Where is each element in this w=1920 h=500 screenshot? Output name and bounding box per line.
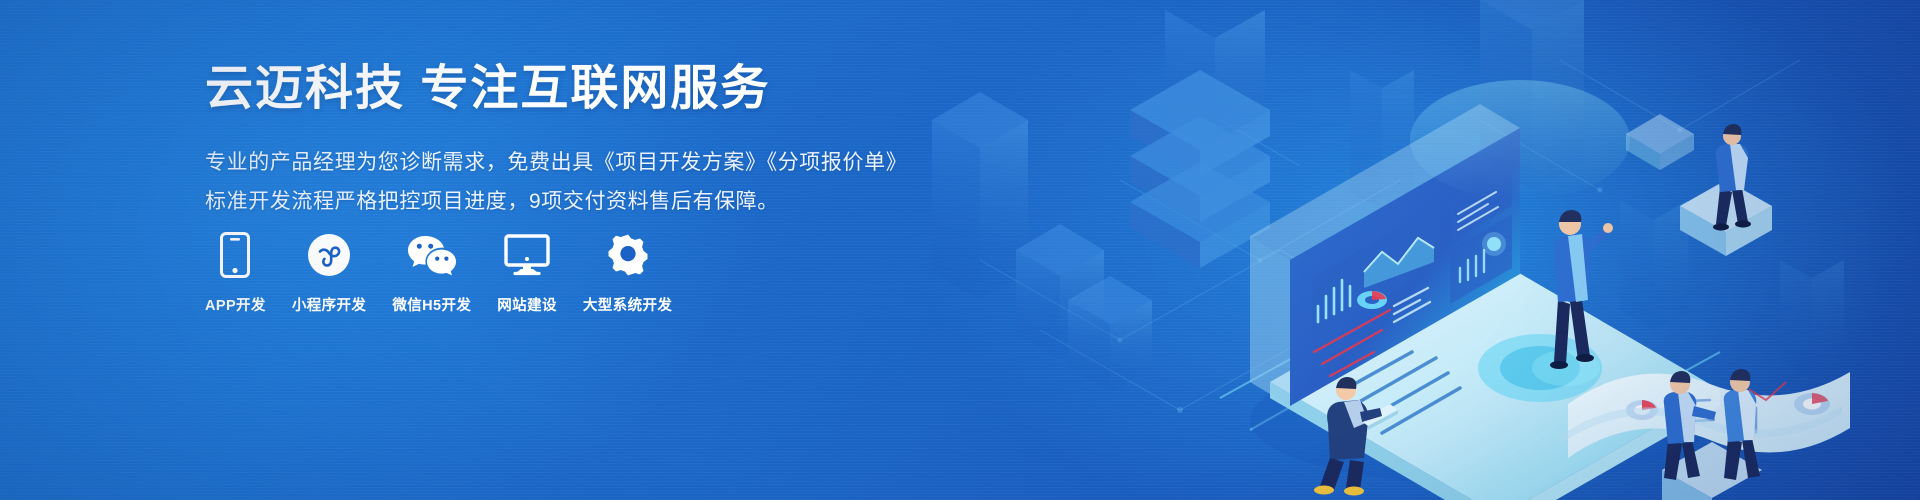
subtitle-line-2: 标准开发流程严格把控项目进度，9项交付资料售后有保障。 [205,183,965,222]
service-label: 微信H5开发 [392,294,471,315]
wechat-icon [407,232,457,278]
service-label: 小程序开发 [292,294,367,315]
service-label: 网站建设 [497,294,557,315]
banner-subtitle: 专业的产品经理为您诊断需求，免费出具《项目开发方案》《分项报价单》 标准开发流程… [205,144,965,222]
service-item-mini-program[interactable]: 小程序开发 [292,232,367,315]
gear-icon [606,232,650,278]
service-label: 大型系统开发 [583,294,672,315]
subtitle-line-1: 专业的产品经理为您诊断需求，免费出具《项目开发方案》《分项报价单》 [205,144,965,183]
service-item-wechat-h5[interactable]: 微信H5开发 [392,232,471,315]
hero-banner: 云迈科技 专注互联网服务 专业的产品经理为您诊断需求，免费出具《项目开发方案》《… [0,0,1920,500]
service-item-app[interactable]: APP开发 [205,232,266,315]
banner-content: 云迈科技 专注互联网服务 专业的产品经理为您诊断需求，免费出具《项目开发方案》《… [205,62,965,221]
service-item-website[interactable]: 网站建设 [497,232,557,315]
service-item-large-system[interactable]: 大型系统开发 [583,232,672,315]
service-list: APP开发 小程序开发 微信 [205,232,698,315]
desktop-monitor-icon [504,232,550,278]
mobile-phone-icon [220,232,250,278]
mini-program-icon [307,232,351,278]
isometric-data-dashboard-illustration [920,0,1920,500]
service-label: APP开发 [205,294,266,315]
page-title: 云迈科技 专注互联网服务 [205,62,965,116]
